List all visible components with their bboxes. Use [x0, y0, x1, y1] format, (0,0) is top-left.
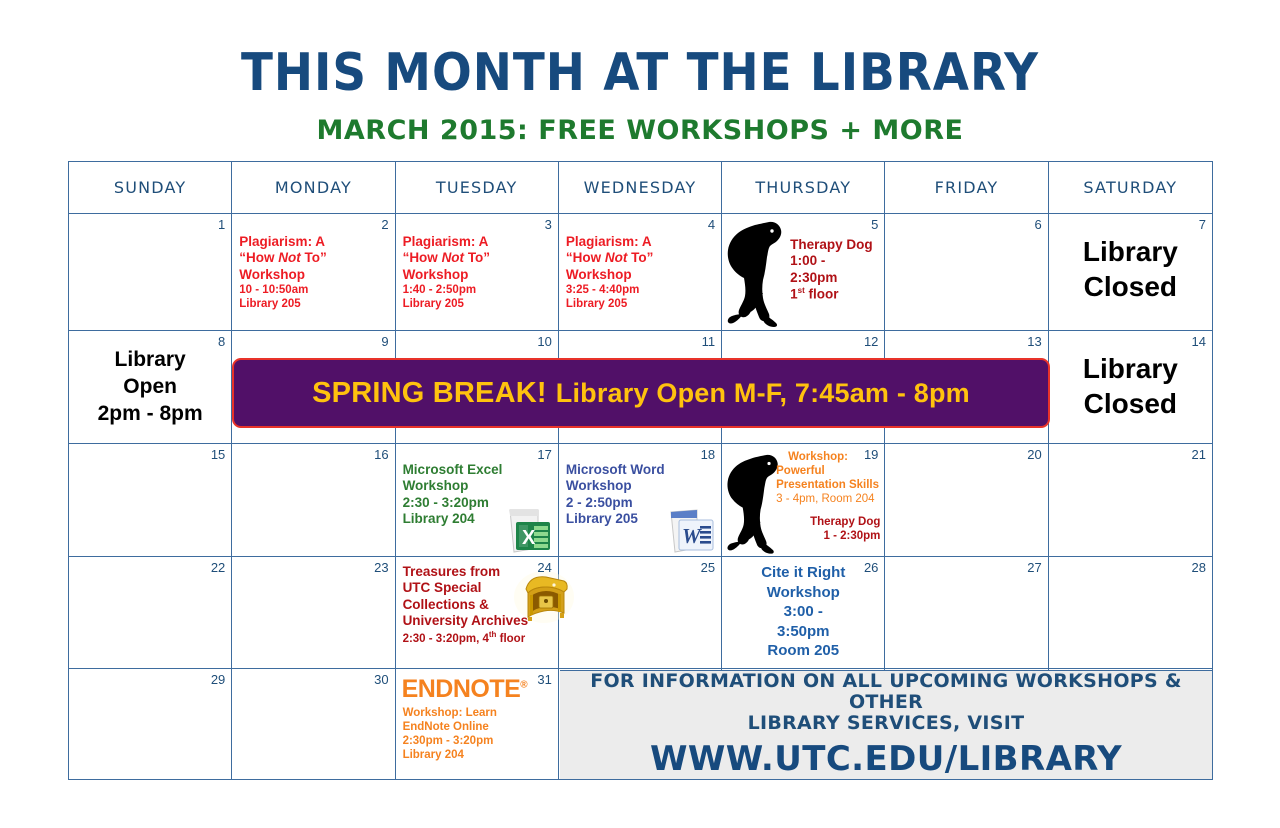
- day-cell-27[interactable]: 27: [885, 557, 1048, 668]
- day-cell-28[interactable]: 28: [1049, 557, 1212, 668]
- event-room: Library 205: [566, 297, 715, 311]
- event-time: 2:30pm - 3:20pm: [403, 734, 552, 748]
- library-open-notice: Library Open 2pm - 8pm: [69, 347, 231, 428]
- day-cell-15[interactable]: 15: [69, 444, 232, 556]
- event-title-line2: Workshop: [566, 478, 715, 494]
- word-icon: W: [663, 508, 717, 554]
- weekday-header-wednesday: WEDNESDAY: [559, 162, 722, 213]
- event-title-line2: Workshop: [403, 478, 552, 494]
- day-cell-7[interactable]: 7 Library Closed: [1049, 214, 1212, 330]
- day-cell-16[interactable]: 16: [232, 444, 395, 556]
- day-cell-14[interactable]: 14 Library Closed: [1049, 331, 1212, 443]
- day-cell-2[interactable]: 2 Plagiarism: A “How Not To” Workshop 10…: [232, 214, 395, 330]
- svg-text:W: W: [682, 524, 702, 548]
- day-cell-26[interactable]: 26 Cite it Right Workshop 3:00 - 3:50pm …: [722, 557, 885, 668]
- event-therapy-dog[interactable]: Therapy Dog 1 - 2:30pm: [776, 515, 880, 543]
- day-number: 27: [1027, 560, 1041, 575]
- event-title: Therapy Dog: [776, 515, 880, 529]
- notice-line1: Library: [69, 347, 231, 374]
- day-number: 26: [864, 560, 878, 575]
- event-title-line2: Workshop: [726, 583, 880, 603]
- day-number: 20: [1027, 447, 1041, 462]
- day-cell-19[interactable]: 19 Workshop: Powerful Presentation Skill…: [722, 444, 885, 556]
- day-cell-21[interactable]: 21: [1049, 444, 1212, 556]
- day-number: 17: [537, 447, 551, 462]
- event-title-line3: Workshop: [239, 267, 388, 283]
- event-room: Library 204: [403, 748, 552, 762]
- day-cell-31[interactable]: 31 ENDNOTE® Workshop: Learn EndNote Onli…: [396, 669, 559, 779]
- event-title-line2: EndNote Online: [403, 720, 552, 734]
- footer-url[interactable]: WWW.UTC.EDU/LIBRARY: [650, 739, 1122, 779]
- spring-break-banner: SPRING BREAK! Library Open M-F, 7:45am -…: [232, 358, 1050, 428]
- day-number: 13: [1027, 334, 1041, 349]
- day-number: 30: [374, 672, 388, 687]
- day-number: 14: [1192, 334, 1206, 349]
- day-number: 23: [374, 560, 388, 575]
- day-number: 15: [211, 447, 225, 462]
- day-cell-23[interactable]: 23: [232, 557, 395, 668]
- notice-line1: Library: [1049, 234, 1212, 269]
- day-number: 25: [701, 560, 715, 575]
- event-plagiarism-workshop[interactable]: Plagiarism: A “How Not To” Workshop 1:40…: [403, 234, 552, 311]
- day-cell-8[interactable]: 8 Library Open 2pm - 8pm: [69, 331, 232, 443]
- day-cell-30[interactable]: 30: [232, 669, 395, 779]
- event-title-line2: “How Not To”: [566, 250, 715, 266]
- library-closed-notice: Library Closed: [1049, 234, 1212, 305]
- week-row-1: 1 2 Plagiarism: A “How Not To” Workshop …: [69, 214, 1212, 331]
- notice-line3: 2pm - 8pm: [69, 401, 231, 428]
- day-number: 5: [871, 217, 878, 232]
- week-row-3: 15 16 17 Microsoft Excel Workshop 2:30 -…: [69, 444, 1212, 557]
- footer-banner: FOR INFORMATION ON ALL UPCOMING WORKSHOP…: [560, 670, 1212, 779]
- event-title-line1: Workshop: Learn: [403, 706, 552, 720]
- weekday-header-tuesday: TUESDAY: [396, 162, 559, 213]
- week-row-4: 22 23 24 Treasures from UTC Special Coll…: [69, 557, 1212, 669]
- event-therapy-dog[interactable]: Therapy Dog 1:00 - 2:30pm 1st floor: [790, 237, 878, 303]
- page-title: THIS MONTH AT THE LIBRARY: [0, 46, 1280, 101]
- weekday-header-monday: MONDAY: [232, 162, 395, 213]
- day-number: 21: [1192, 447, 1206, 462]
- day-number: 19: [864, 447, 878, 462]
- day-number: 18: [701, 447, 715, 462]
- day-number: 10: [537, 334, 551, 349]
- event-time-line2: 3:50pm: [726, 622, 880, 642]
- day-number: 22: [211, 560, 225, 575]
- excel-icon: X: [500, 508, 554, 554]
- event-room: Library 205: [239, 297, 388, 311]
- treasure-chest-icon: [512, 569, 576, 625]
- event-title-line1: Plagiarism: A: [239, 234, 388, 250]
- day-cell-22[interactable]: 22: [69, 557, 232, 668]
- day-number: 9: [381, 334, 388, 349]
- notice-line2: Closed: [1049, 269, 1212, 304]
- event-location: 1st floor: [790, 286, 878, 303]
- event-title: Therapy Dog: [790, 237, 878, 253]
- weekday-header-thursday: THURSDAY: [722, 162, 885, 213]
- event-title-line1: Plagiarism: A: [403, 234, 552, 250]
- event-time-line2: 2:30pm: [790, 270, 878, 286]
- day-number: 29: [211, 672, 225, 687]
- day-cell-3[interactable]: 3 Plagiarism: A “How Not To” Workshop 1:…: [396, 214, 559, 330]
- event-time: 10 - 10:50am: [239, 283, 388, 297]
- event-title-line3: Workshop: [403, 267, 552, 283]
- event-time-line1: 1:00 -: [790, 253, 878, 269]
- day-cell-25[interactable]: 25: [559, 557, 722, 668]
- notice-line1: Library: [1049, 351, 1212, 386]
- spring-break-hours: Library Open M-F, 7:45am - 8pm: [556, 378, 970, 409]
- weekday-header-sunday: SUNDAY: [69, 162, 232, 213]
- weekday-header-saturday: SATURDAY: [1049, 162, 1212, 213]
- event-room: Library 205: [403, 297, 552, 311]
- day-number: 3: [545, 217, 552, 232]
- day-cell-17[interactable]: 17 Microsoft Excel Workshop 2:30 - 3:20p…: [396, 444, 559, 556]
- day-cell-5[interactable]: 5 Therapy Dog 1:00 - 2:30pm 1st floor: [722, 214, 885, 330]
- day-number: 8: [218, 334, 225, 349]
- event-time-line1: 3:00 -: [726, 602, 880, 622]
- day-cell-6[interactable]: 6: [885, 214, 1048, 330]
- day-number: 2: [381, 217, 388, 232]
- event-title-line1: Microsoft Word: [566, 462, 715, 478]
- event-title-line3: Presentation Skills: [776, 478, 880, 492]
- event-title-line2: “How Not To”: [239, 250, 388, 266]
- day-cell-29[interactable]: 29: [69, 669, 232, 779]
- event-title-line1: Microsoft Excel: [403, 462, 552, 478]
- day-cell-20[interactable]: 20: [885, 444, 1048, 556]
- spring-break-headline: SPRING BREAK!: [312, 377, 547, 410]
- therapy-dog-icon: [723, 216, 789, 328]
- svg-text:X: X: [522, 527, 536, 549]
- event-time: 2:30 - 3:20pm, 4th floor: [403, 630, 552, 646]
- day-number: 4: [708, 217, 715, 232]
- day-number: 28: [1192, 560, 1206, 575]
- event-title-line1: Cite it Right: [726, 563, 880, 583]
- day-cell-18[interactable]: 18 Microsoft Word Workshop 2 - 2:50pm Li…: [559, 444, 722, 556]
- event-time: 3:25 - 4:40pm: [566, 283, 715, 297]
- event-endnote-workshop[interactable]: Workshop: Learn EndNote Online 2:30pm - …: [403, 706, 552, 762]
- notice-line2: Closed: [1049, 386, 1212, 421]
- day-cell-24[interactable]: 24 Treasures from UTC Special Collection…: [396, 557, 559, 668]
- page-subtitle: MARCH 2015: FREE WORKSHOPS + MORE: [0, 117, 1280, 145]
- event-time: 1:40 - 2:50pm: [403, 283, 552, 297]
- day-cell-4[interactable]: 4 Plagiarism: A “How Not To” Workshop 3:…: [559, 214, 722, 330]
- notice-line2: Open: [69, 374, 231, 401]
- event-title-line2: Powerful: [776, 464, 880, 478]
- library-closed-notice: Library Closed: [1049, 351, 1212, 422]
- footer-line1: FOR INFORMATION ON ALL UPCOMING WORKSHOP…: [560, 671, 1212, 714]
- endnote-logo: ENDNOTE®: [402, 675, 528, 704]
- event-plagiarism-workshop[interactable]: Plagiarism: A “How Not To” Workshop 10 -…: [239, 234, 388, 311]
- event-time: 3 - 4pm, Room 204: [776, 492, 880, 506]
- day-number: 31: [537, 672, 551, 687]
- day-number: 16: [374, 447, 388, 462]
- event-title-line2: “How Not To”: [403, 250, 552, 266]
- event-title-line3: Workshop: [566, 267, 715, 283]
- event-cite-it-right-workshop[interactable]: Cite it Right Workshop 3:00 - 3:50pm Roo…: [726, 563, 880, 661]
- event-time: 1 - 2:30pm: [776, 529, 880, 543]
- weekday-header-row: SUNDAY MONDAY TUESDAY WEDNESDAY THURSDAY…: [69, 162, 1212, 214]
- day-number: 7: [1199, 217, 1206, 232]
- event-title-line1: Plagiarism: A: [566, 234, 715, 250]
- day-number: 6: [1034, 217, 1041, 232]
- day-number: 12: [864, 334, 878, 349]
- weekday-header-friday: FRIDAY: [885, 162, 1048, 213]
- footer-line2: LIBRARY SERVICES, VISIT: [748, 713, 1025, 734]
- event-plagiarism-workshop[interactable]: Plagiarism: A “How Not To” Workshop 3:25…: [566, 234, 715, 311]
- calendar-page: THIS MONTH AT THE LIBRARY MARCH 2015: FR…: [0, 0, 1280, 828]
- day-number: 11: [702, 334, 716, 349]
- event-room: Room 205: [726, 641, 880, 661]
- day-number: 1: [218, 217, 225, 232]
- day-number: 24: [537, 560, 551, 575]
- day-cell-1[interactable]: 1: [69, 214, 232, 330]
